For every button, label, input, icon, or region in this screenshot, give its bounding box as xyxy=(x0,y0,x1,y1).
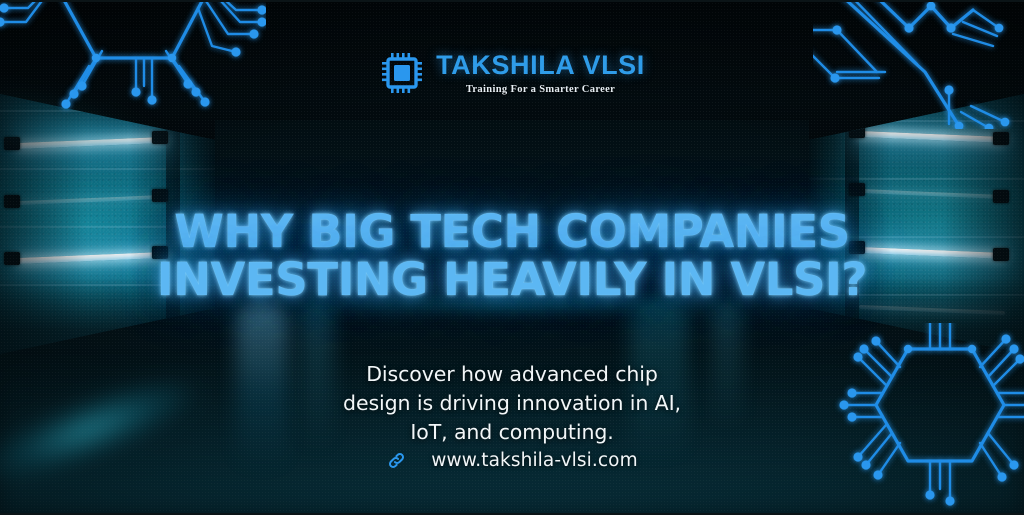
headline: WHY BIG TECH COMPANIES INVESTING HEAVILY… xyxy=(0,208,1024,304)
website-link[interactable]: www.takshila-vlsi.com xyxy=(330,450,694,471)
subtitle: Discover how advanced chip design is dri… xyxy=(330,360,694,447)
brand-name: TAKSHILA VLSI xyxy=(436,52,645,79)
headline-line-1: WHY BIG TECH COMPANIES xyxy=(0,208,1024,256)
poster-content: TAKSHILA VLSI Training For a Smarter Car… xyxy=(0,2,1024,513)
microchip-icon xyxy=(379,50,425,96)
headline-line-2: INVESTING HEAVILY IN VLSI? xyxy=(0,256,1024,304)
link-chain-icon xyxy=(386,450,407,471)
website-url: www.takshila-vlsi.com xyxy=(431,450,637,471)
poster-canvas: TAKSHILA VLSI Training For a Smarter Car… xyxy=(0,0,1024,515)
brand-logo[interactable]: TAKSHILA VLSI Training For a Smarter Car… xyxy=(0,50,1024,96)
brand-tagline: Training For a Smarter Career xyxy=(466,84,615,95)
